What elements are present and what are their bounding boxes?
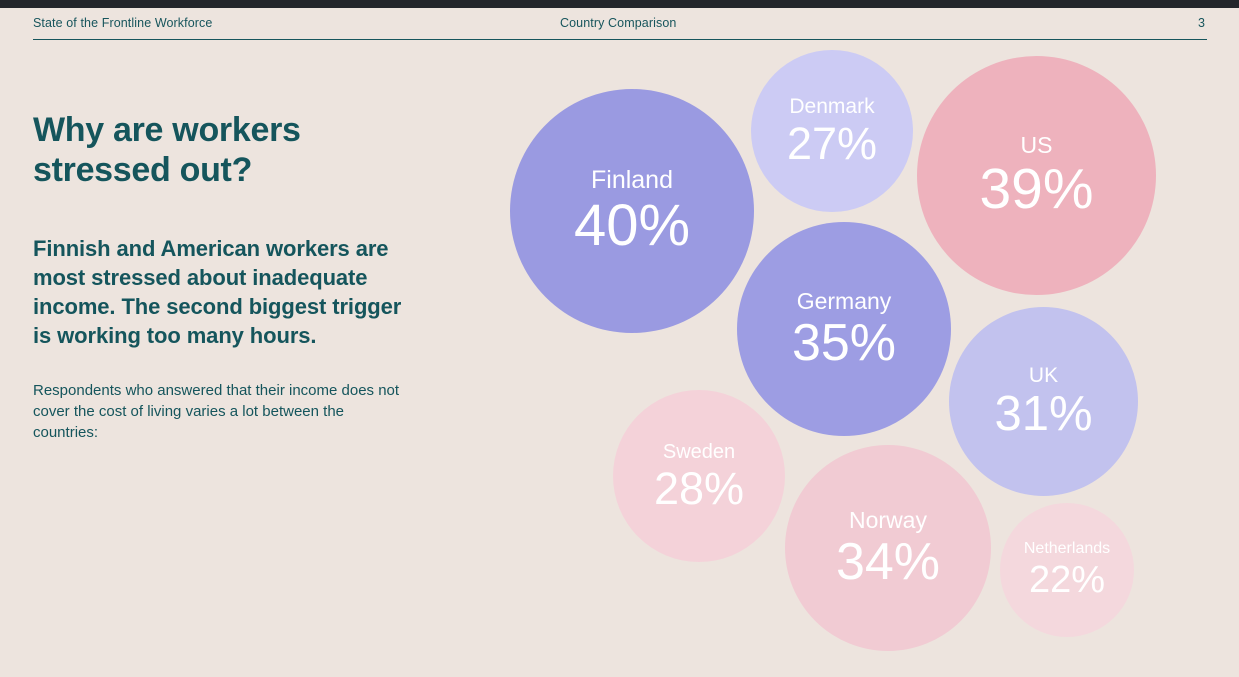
bubble-label-us: US — [1021, 134, 1053, 157]
bubble-finland[interactable]: Finland 40% — [510, 89, 754, 333]
bubble-label-norway: Norway — [849, 509, 927, 532]
bubble-norway[interactable]: Norway 34% — [785, 445, 991, 651]
bubble-label-denmark: Denmark — [789, 96, 874, 117]
bubble-label-germany: Germany — [797, 290, 892, 313]
bubble-value-uk: 31% — [994, 390, 1092, 439]
bubble-label-netherlands: Netherlands — [1024, 541, 1110, 557]
bubble-label-sweden: Sweden — [663, 442, 735, 462]
bubble-chart: Finland 40% Denmark 27% US 39% Germany 3… — [0, 0, 1239, 677]
slide: State of the Frontline Workforce Country… — [0, 0, 1239, 677]
bubble-netherlands[interactable]: Netherlands 22% — [1000, 503, 1134, 637]
bubble-sweden[interactable]: Sweden 28% — [613, 390, 785, 562]
bubble-denmark[interactable]: Denmark 27% — [751, 50, 913, 212]
bubble-value-finland: 40% — [574, 197, 690, 255]
bubble-value-sweden: 28% — [654, 466, 744, 511]
bubble-germany[interactable]: Germany 35% — [737, 222, 951, 436]
bubble-label-uk: UK — [1029, 365, 1058, 386]
bubble-value-denmark: 27% — [787, 121, 877, 166]
bubble-value-norway: 34% — [836, 536, 940, 588]
bubble-value-germany: 35% — [792, 317, 896, 369]
bubble-us[interactable]: US 39% — [917, 56, 1156, 295]
bubble-value-netherlands: 22% — [1029, 561, 1105, 599]
bubble-label-finland: Finland — [591, 168, 673, 193]
bubble-uk[interactable]: UK 31% — [949, 307, 1138, 496]
bubble-value-us: 39% — [979, 161, 1093, 218]
